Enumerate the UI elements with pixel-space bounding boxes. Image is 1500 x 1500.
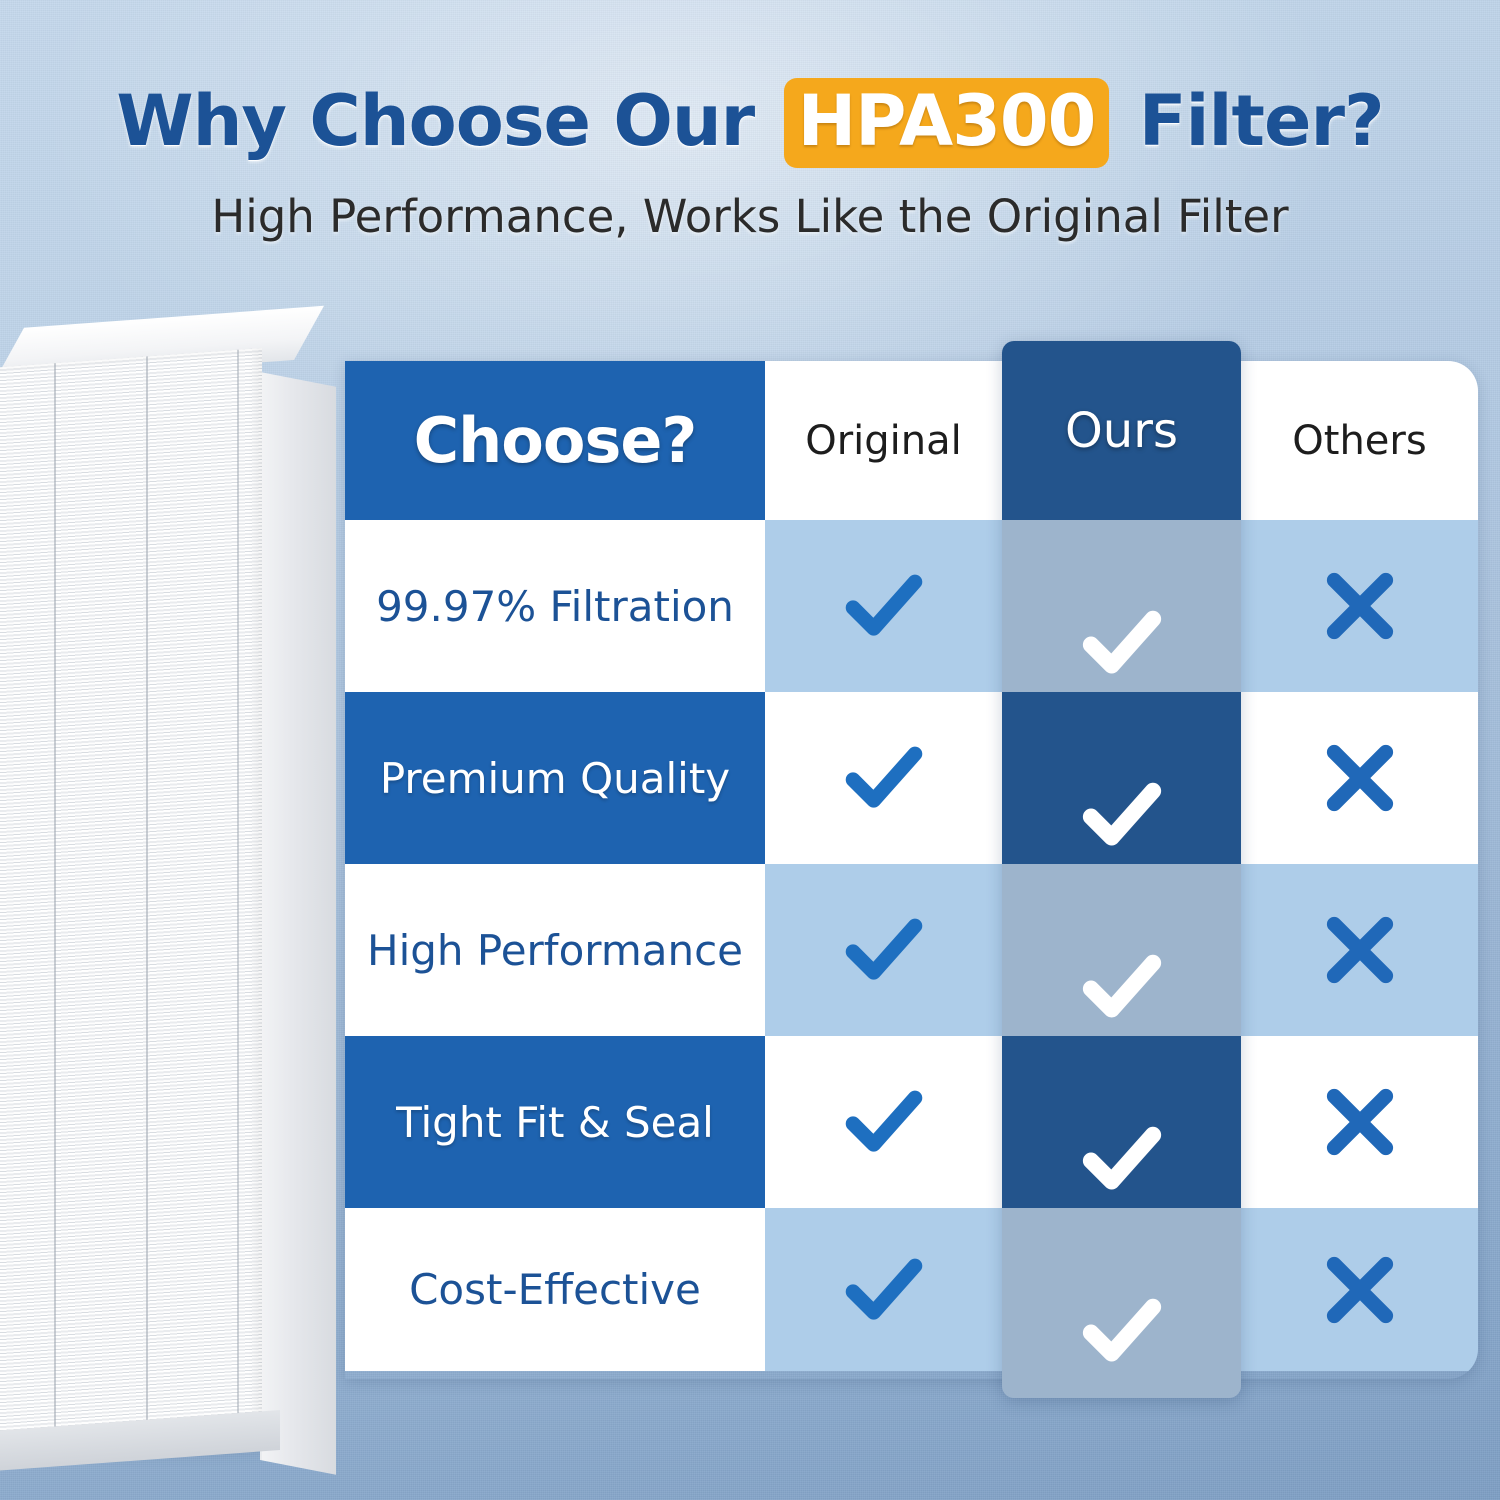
column-header-others: Others	[1241, 361, 1478, 520]
title-part-2: Filter?	[1139, 80, 1384, 162]
cell-others	[1241, 1208, 1478, 1371]
check-icon	[1079, 732, 1165, 818]
cross-icon	[1317, 563, 1403, 649]
check-icon	[1079, 560, 1165, 646]
check-icon	[1079, 1076, 1165, 1162]
cell-original	[765, 864, 1002, 1036]
row-label-cell: High Performance	[345, 864, 765, 1036]
cell-others	[1241, 864, 1478, 1036]
ours-cell-tight-fit-seal	[1002, 1036, 1241, 1208]
row-label: High Performance	[367, 926, 743, 975]
ours-cell-filtration	[1002, 520, 1241, 692]
ours-cell-cost-effective	[1002, 1208, 1241, 1398]
column-header-original: Original	[765, 361, 1002, 520]
choose-label: Choose?	[414, 404, 697, 477]
ours-column-header: Ours	[1002, 341, 1241, 520]
page-title: Why Choose Our HPA300 Filter?	[0, 78, 1500, 168]
row-label: Tight Fit & Seal	[396, 1098, 714, 1147]
row-label-cell: Tight Fit & Seal	[345, 1036, 765, 1208]
check-icon	[841, 735, 927, 821]
cell-original	[765, 520, 1002, 692]
cell-original	[765, 692, 1002, 864]
cell-others	[1241, 1036, 1478, 1208]
table-row: Tight Fit & Seal	[345, 1036, 1478, 1208]
table-title-cell: Choose?	[345, 361, 765, 520]
cross-icon	[1317, 735, 1403, 821]
cross-icon	[1317, 907, 1403, 993]
cross-icon	[1317, 1079, 1403, 1165]
filter-frame-lines	[0, 348, 262, 1465]
ours-cell-high-performance	[1002, 864, 1241, 1036]
row-label-cell: Cost-Effective	[345, 1208, 765, 1371]
table-row: High Performance	[345, 864, 1478, 1036]
ours-highlight-column: Ours	[1002, 341, 1241, 1398]
check-icon	[841, 1247, 927, 1333]
ours-cell-premium-quality	[1002, 692, 1241, 864]
table-row: Cost-Effective	[345, 1208, 1478, 1371]
title-highlight-badge: HPA300	[784, 78, 1110, 168]
check-icon	[841, 907, 927, 993]
check-icon	[841, 1079, 927, 1165]
check-icon	[1079, 904, 1165, 990]
table-row: 99.97% Filtration	[345, 520, 1478, 692]
row-label: Premium Quality	[380, 754, 730, 803]
title-part-1: Why Choose Our	[116, 80, 754, 162]
hepa-filter-image	[0, 330, 344, 1445]
comparison-table: Choose? Original Others 99.97% Filtratio…	[345, 361, 1478, 1379]
row-label-cell: Premium Quality	[345, 692, 765, 864]
page-subtitle: High Performance, Works Like the Origina…	[0, 190, 1500, 243]
table-header-row: Choose? Original Others	[345, 361, 1478, 520]
check-icon	[1079, 1248, 1165, 1334]
check-icon	[841, 563, 927, 649]
column-header-ours-label: Ours	[1065, 403, 1178, 459]
cell-original	[765, 1208, 1002, 1371]
cross-icon	[1317, 1247, 1403, 1333]
cell-others	[1241, 520, 1478, 692]
row-label-cell: 99.97% Filtration	[345, 520, 765, 692]
row-label: 99.97% Filtration	[376, 582, 734, 631]
filter-side-face	[260, 372, 336, 1475]
cell-others	[1241, 692, 1478, 864]
column-header-others-label: Others	[1292, 418, 1426, 464]
column-header-original-label: Original	[805, 418, 962, 464]
cell-original	[765, 1036, 1002, 1208]
row-label: Cost-Effective	[409, 1265, 701, 1314]
table-row: Premium Quality	[345, 692, 1478, 864]
